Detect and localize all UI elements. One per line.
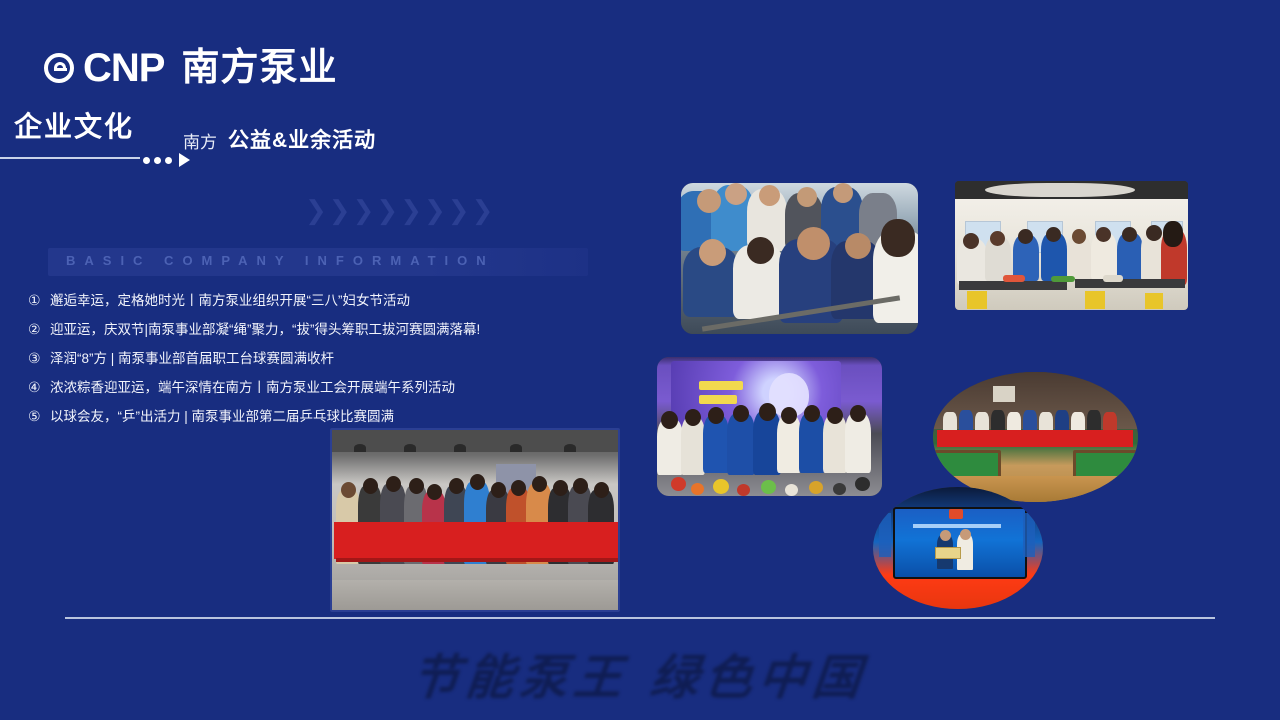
list-item: ② 迎亚运，庆双节|南泵事业部凝“绳”聚力，“拔”得头筹职工拔河赛圆满落幕!	[28, 321, 628, 339]
photo-cooking-activity	[955, 181, 1188, 310]
photo-billiards-match	[933, 372, 1138, 502]
list-item-label: 邂逅幸运，定格她时光丨南方泵业组织开展“三八”妇女节活动	[50, 292, 410, 310]
watermark-band-label: BASIC COMPANY INFORMATION	[66, 253, 495, 268]
triangle-right-icon	[179, 153, 190, 167]
title-underline	[0, 157, 140, 159]
list-item: ⑤ 以球会友，“乒”出活力 | 南泵事业部第二届乒乓球比赛圆满	[28, 408, 628, 426]
logo-text-en: CNP	[83, 48, 164, 88]
list-item: ③ 泽润“8”方 | 南泵事业部首届职工台球赛圆满收杆	[28, 350, 628, 368]
list-item-label: 以球会友，“乒”出活力 | 南泵事业部第二届乒乓球比赛圆满	[50, 408, 394, 426]
three-dots-icon	[143, 153, 190, 167]
cnp-circle-logo-icon	[44, 53, 74, 83]
list-item-label: 泽润“8”方 | 南泵事业部首届职工台球赛圆满收杆	[50, 350, 334, 368]
photo-tug-of-war	[681, 183, 918, 334]
footer-divider	[65, 617, 1215, 619]
photo-womens-day-event	[657, 357, 882, 496]
slide-canvas: CNP 南方泵业 企业文化 南方 公益&业余活动 ❯❯❯❯ ❯❯❯❯ BASIC…	[0, 0, 1280, 720]
subtitle-main: 公益&业余活动	[228, 130, 376, 151]
list-item: ④ 浓浓粽香迎亚运，端午深情在南方丨南方泵业工会开展端午系列活动	[28, 379, 628, 397]
list-item: ① 邂逅幸运，定格她时光丨南方泵业组织开展“三八”妇女节活动	[28, 292, 628, 310]
list-item-number: ①	[28, 292, 50, 310]
list-item-label: 浓浓粽香迎亚运，端午深情在南方丨南方泵业工会开展端午系列活动	[50, 379, 455, 397]
brand-logo: CNP 南方泵业	[44, 48, 337, 88]
photo-award-ceremony	[873, 487, 1043, 609]
list-item-number: ④	[28, 379, 50, 397]
footer-slogan: 节能泵王 绿色中国	[0, 636, 1280, 706]
list-item-number: ②	[28, 321, 50, 339]
list-item-number: ③	[28, 350, 50, 368]
list-item-number: ⑤	[28, 408, 50, 426]
subtitle-prefix: 南方	[183, 134, 217, 151]
list-item-label: 迎亚运，庆双节|南泵事业部凝“绳”聚力，“拔”得头筹职工拔河赛圆满落幕!	[50, 321, 480, 339]
chevron-stack-icon: ❯❯❯❯ ❯❯❯❯	[305, 198, 493, 224]
logo-text-cn: 南方泵业	[181, 49, 337, 87]
page-title: 企业文化	[14, 112, 134, 143]
activity-list: ① 邂逅幸运，定格她时光丨南方泵业组织开展“三八”妇女节活动 ② 迎亚运，庆双节…	[28, 292, 628, 437]
photo-table-tennis-group	[330, 428, 620, 612]
